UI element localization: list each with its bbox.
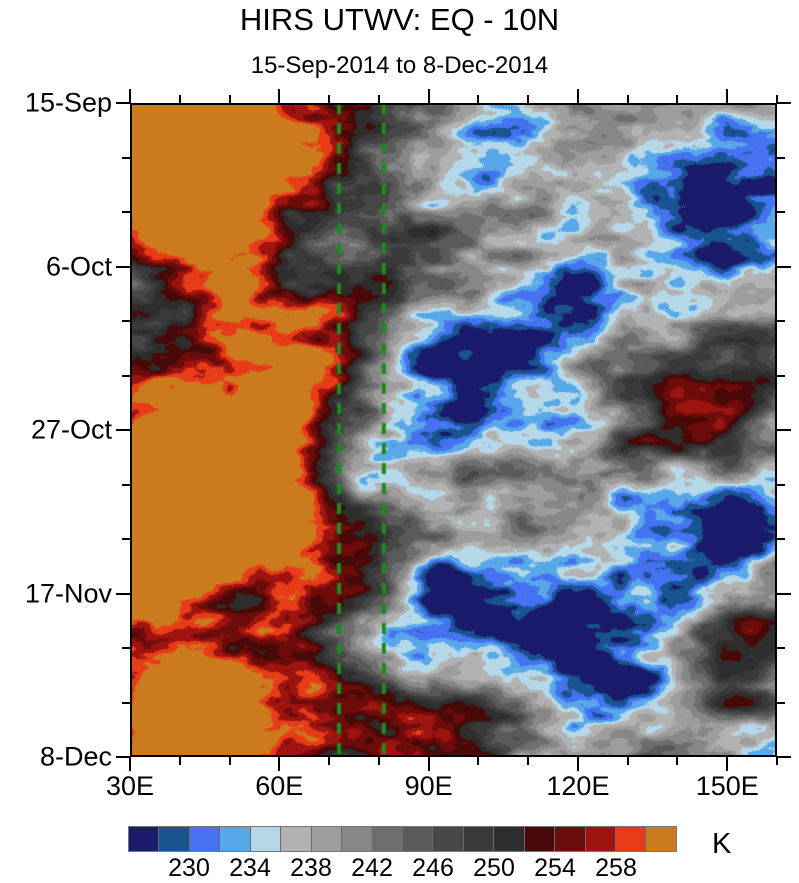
x-tick-major [726, 757, 728, 771]
x-tick-major [577, 89, 579, 103]
x-tick-major [428, 89, 430, 103]
chart-subtitle: 15-Sep-2014 to 8-Dec-2014 [0, 52, 799, 80]
x-axis-label: 90E [405, 771, 453, 802]
y-tick-major [116, 102, 130, 104]
x-axis-label: 120E [546, 771, 609, 802]
y-tick-minor [122, 647, 130, 649]
y-tick-minor [777, 647, 785, 649]
colorbar-swatch [494, 827, 524, 851]
x-axis-label: 60E [255, 771, 303, 802]
y-tick-minor [122, 375, 130, 377]
colorbar-swatch [555, 827, 585, 851]
colorbar-strip [128, 826, 677, 852]
y-tick-minor [122, 157, 130, 159]
colorbar-swatch [403, 827, 433, 851]
colorbar-swatch [646, 827, 675, 851]
y-tick-minor [122, 320, 130, 322]
x-tick-minor [378, 757, 380, 765]
colorbar-swatch [159, 827, 189, 851]
y-tick-minor [777, 375, 785, 377]
y-tick-major [777, 593, 791, 595]
y-tick-minor [777, 157, 785, 159]
colorbar: 230234238242246250254258 [128, 826, 677, 852]
contour-field [130, 103, 777, 757]
colorbar-swatch [190, 827, 220, 851]
colorbar-swatch [220, 827, 250, 851]
x-tick-minor [179, 757, 181, 765]
chart-title: HIRS UTWV: EQ - 10N [0, 2, 799, 38]
y-tick-major [116, 756, 130, 758]
y-tick-major [777, 102, 791, 104]
x-tick-minor [527, 757, 529, 765]
x-tick-major [129, 89, 131, 103]
colorbar-swatch [129, 827, 159, 851]
x-tick-minor [527, 95, 529, 103]
colorbar-swatch [616, 827, 646, 851]
y-tick-major [116, 429, 130, 431]
y-tick-major [777, 429, 791, 431]
colorbar-swatch [464, 827, 494, 851]
y-tick-minor [122, 484, 130, 486]
x-tick-minor [627, 95, 629, 103]
x-axis-label: 150E [696, 771, 759, 802]
y-axis-label: 8-Dec [40, 742, 112, 773]
y-axis-label: 17-Nov [25, 578, 112, 609]
y-tick-minor [777, 538, 785, 540]
y-tick-minor [777, 320, 785, 322]
y-tick-minor [122, 538, 130, 540]
x-tick-major [129, 757, 131, 771]
x-tick-minor [776, 757, 778, 765]
x-tick-minor [328, 757, 330, 765]
x-tick-major [278, 757, 280, 771]
x-tick-major [278, 89, 280, 103]
y-tick-minor [777, 211, 785, 213]
colorbar-swatch [586, 827, 616, 851]
x-tick-minor [477, 757, 479, 765]
y-tick-minor [122, 702, 130, 704]
x-tick-minor [477, 95, 479, 103]
hovmoller-plot: 30E60E90E120E150E 15-Sep6-Oct27-Oct17-No… [130, 103, 777, 757]
y-tick-major [116, 266, 130, 268]
x-tick-major [428, 757, 430, 771]
x-tick-minor [229, 95, 231, 103]
y-axis-label: 15-Sep [25, 88, 112, 119]
y-tick-major [116, 593, 130, 595]
y-tick-major [777, 266, 791, 268]
colorbar-swatch [251, 827, 281, 851]
x-tick-minor [676, 95, 678, 103]
y-tick-minor [122, 211, 130, 213]
colorbar-swatch [342, 827, 372, 851]
colorbar-swatch [525, 827, 555, 851]
colorbar-swatch [373, 827, 403, 851]
x-tick-minor [179, 95, 181, 103]
y-tick-minor [777, 702, 785, 704]
x-tick-minor [627, 757, 629, 765]
y-tick-major [777, 756, 791, 758]
colorbar-swatch [433, 827, 463, 851]
y-axis-label: 6-Oct [46, 251, 112, 282]
colorbar-swatch [312, 827, 342, 851]
x-tick-minor [378, 95, 380, 103]
x-tick-minor [229, 757, 231, 765]
y-axis-label: 27-Oct [31, 415, 112, 446]
x-axis-label: 30E [106, 771, 154, 802]
x-tick-minor [328, 95, 330, 103]
y-tick-minor [777, 484, 785, 486]
colorbar-swatch [281, 827, 311, 851]
colorbar-unit-label: K [712, 828, 731, 861]
x-tick-major [577, 757, 579, 771]
x-tick-major [726, 89, 728, 103]
x-tick-minor [676, 757, 678, 765]
